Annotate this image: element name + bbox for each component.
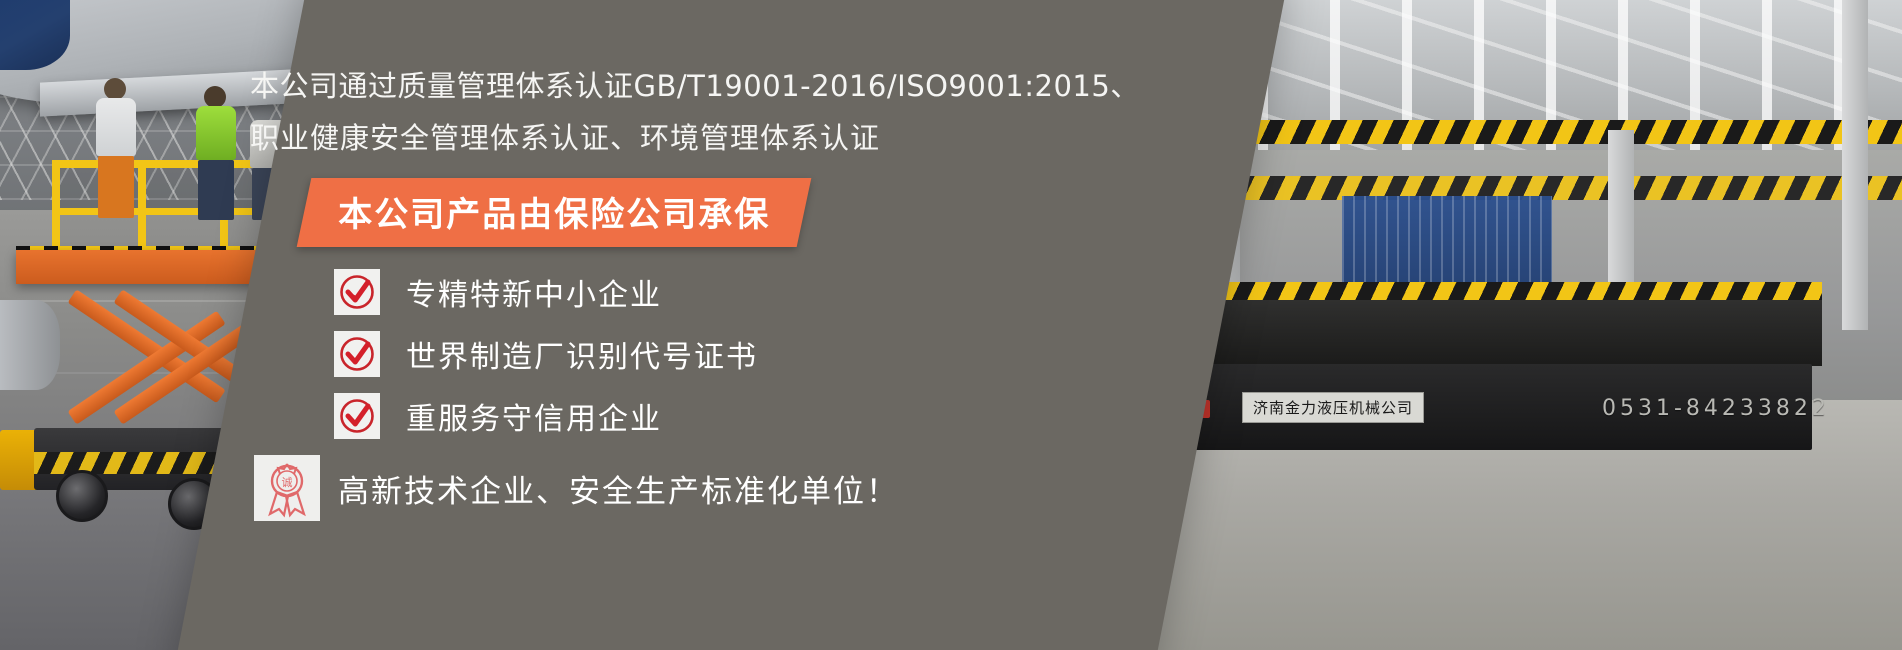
medal-ribbon-icon: 诚	[254, 455, 320, 521]
medal-glyph: 诚	[282, 476, 293, 489]
list-item-label: 世界制造厂识别代号证书	[406, 332, 758, 376]
worker-legs	[98, 156, 134, 218]
upper-hazard-rail	[1162, 120, 1902, 144]
insurance-ribbon-label: 本公司产品由保险公司承保	[338, 187, 770, 236]
lift-wheel	[56, 470, 108, 522]
support-column	[1842, 0, 1868, 330]
list-item-label: 重服务守信用企业	[406, 394, 662, 438]
certification-list: 专精特新中小企业 世界制造厂识别代号证书 重	[250, 269, 1090, 521]
ground-equipment	[0, 300, 60, 390]
company-name-plate: 济南金力液压机械公司	[1242, 392, 1424, 423]
check-circle-icon	[334, 331, 380, 377]
award-row: 诚 高新技术企业、安全生产标准化单位！	[254, 455, 1090, 521]
cart-phone-code: 0531-84233822	[1602, 396, 1830, 421]
worker-torso	[96, 98, 136, 156]
headline-line-2: 职业健康安全管理体系认证、环境管理体系认证	[250, 112, 1090, 164]
check-circle-icon	[334, 393, 380, 439]
list-item: 世界制造厂识别代号证书	[334, 331, 1090, 377]
list-item: 重服务守信用企业	[334, 393, 1090, 439]
promo-banner: 济南金力液压机械公司 0531-84233822 本公司通过质量管理体系认证GB…	[0, 0, 1902, 650]
list-item-label: 专精特新中小企业	[406, 270, 662, 314]
list-item: 专精特新中小企业	[334, 269, 1090, 315]
transfer-cart-deck	[1132, 300, 1822, 366]
aircraft-tail	[0, 0, 70, 70]
worker-vest	[196, 106, 236, 160]
insurance-ribbon: 本公司产品由保险公司承保	[297, 178, 812, 247]
award-label: 高新技术企业、安全生产标准化单位！	[338, 466, 899, 511]
check-circle-icon	[334, 269, 380, 315]
worker-head	[104, 78, 126, 100]
worker-head	[204, 86, 226, 108]
banner-content: 本公司通过质量管理体系认证GB/T19001-2016/ISO9001:2015…	[250, 60, 1090, 521]
headline-line-1: 本公司通过质量管理体系认证GB/T19001-2016/ISO9001:2015…	[250, 60, 1090, 112]
worker-legs	[198, 160, 234, 220]
